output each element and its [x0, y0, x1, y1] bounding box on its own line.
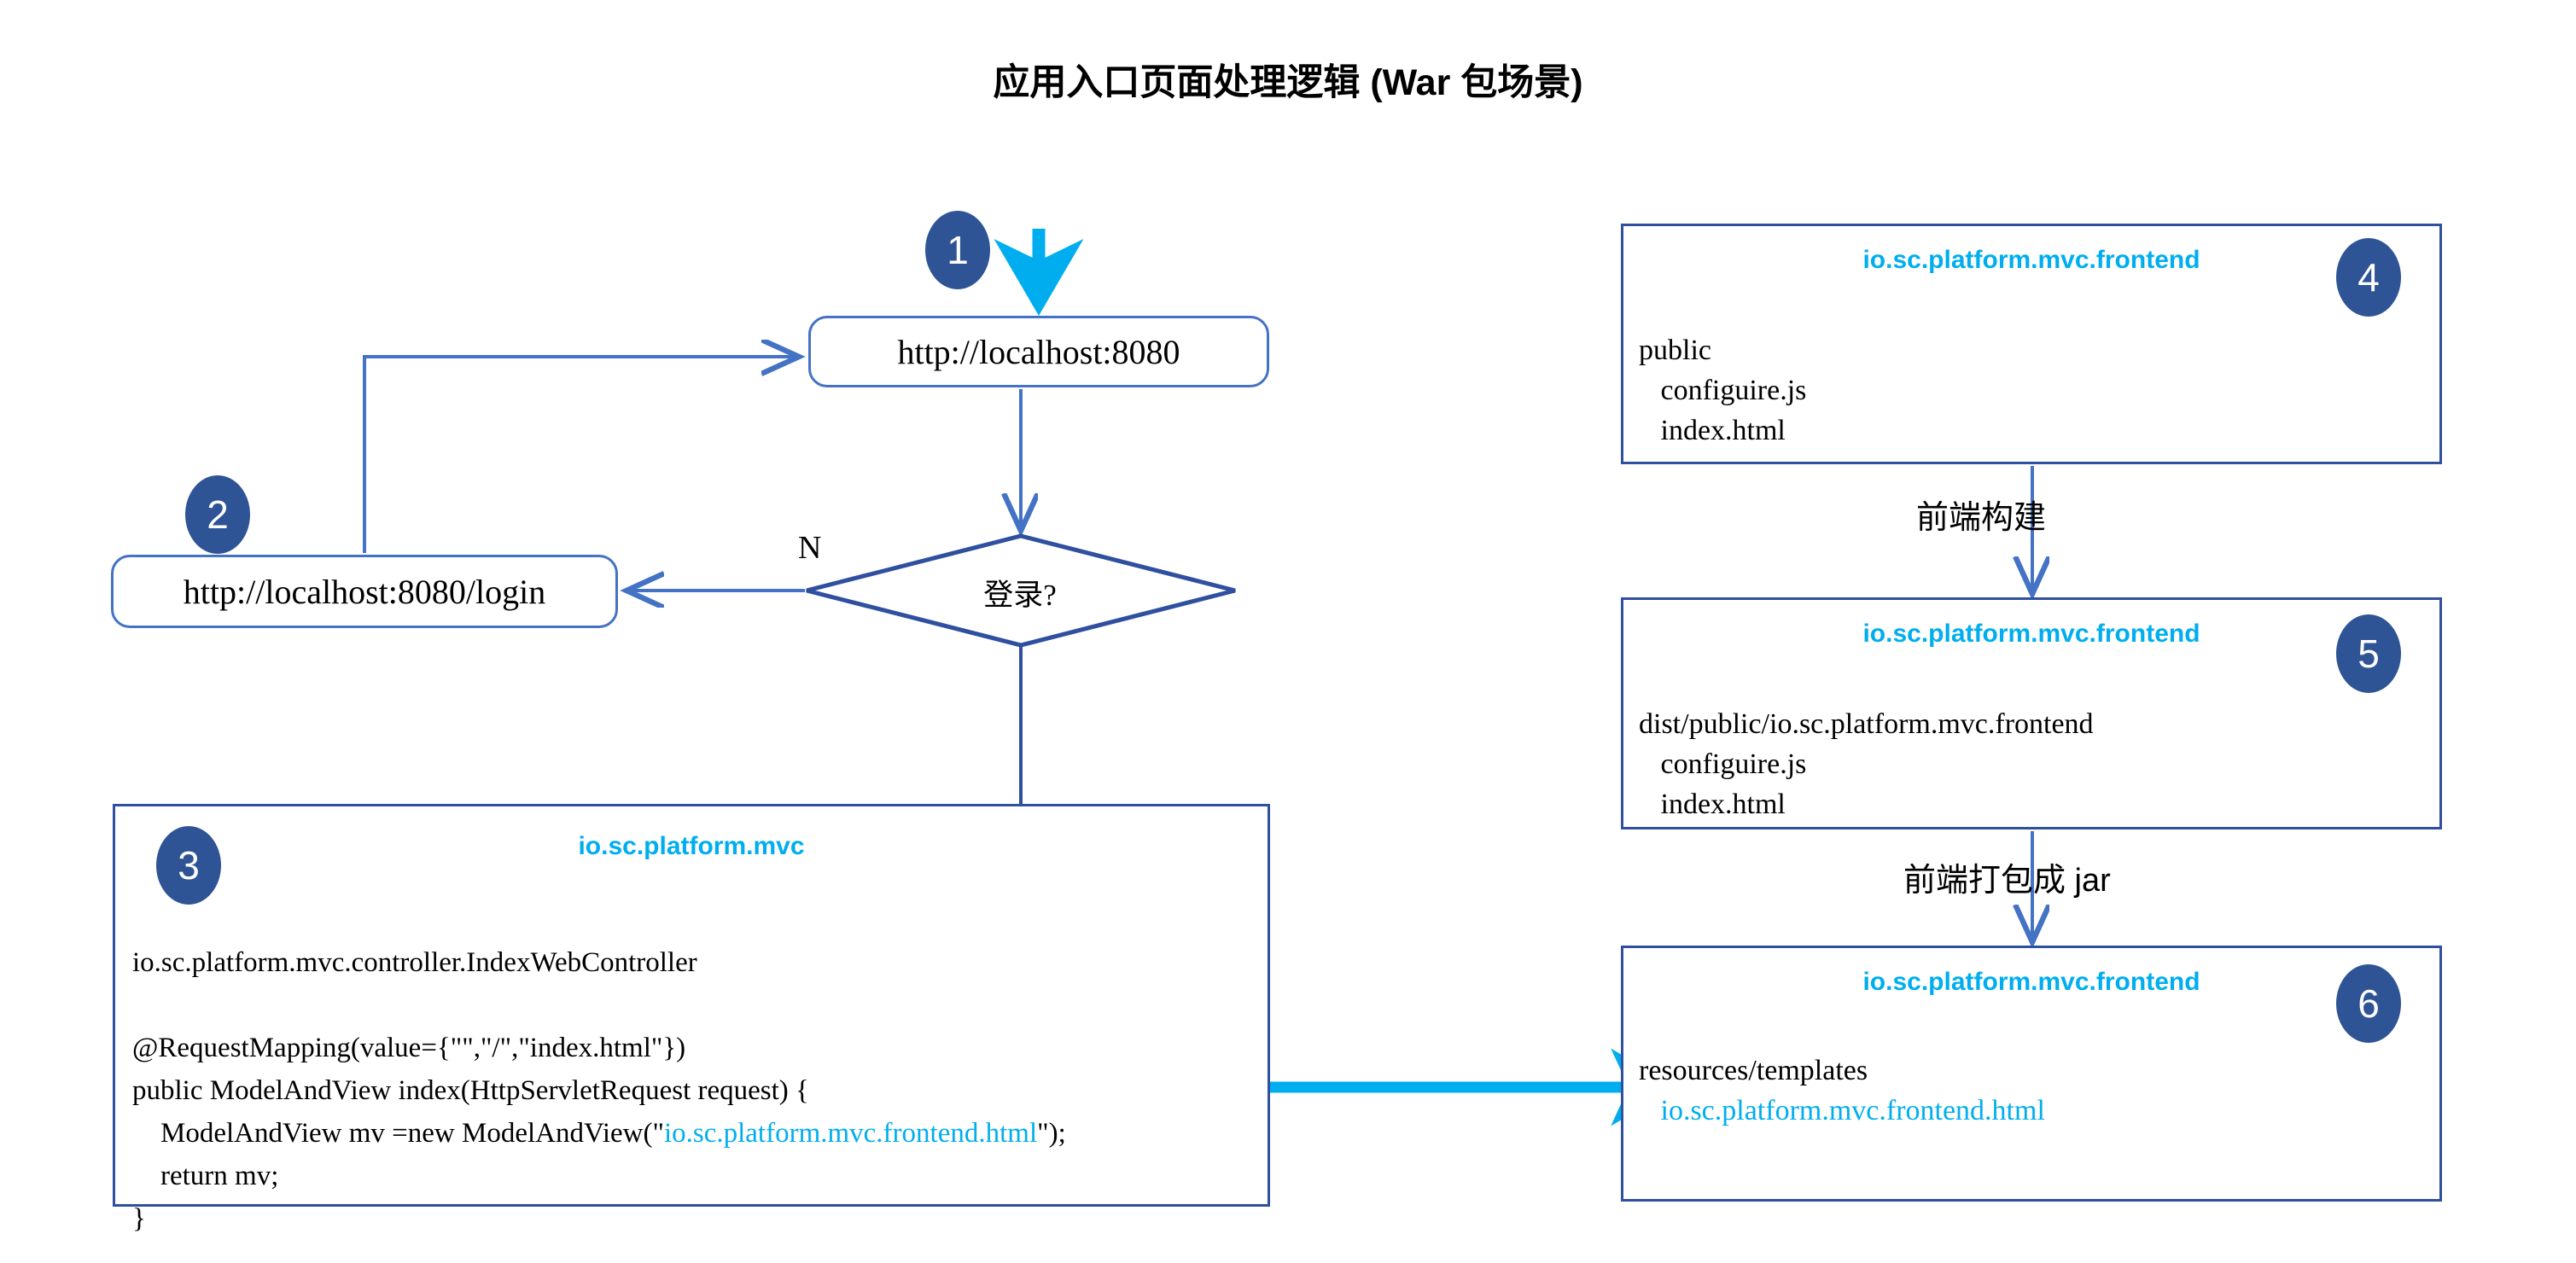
mvc-code-line-3-suffix: ");	[1037, 1118, 1066, 1149]
panel-frontend-source: io.sc.platform.mvc.frontend public confi…	[1621, 224, 2442, 464]
panel-frontend-dist: io.sc.platform.mvc.frontend dist/public/…	[1621, 597, 2442, 829]
decision-branch-no-label: N	[798, 529, 821, 567]
step-badge-4: 4	[2336, 238, 2401, 317]
frontend-dist-line-2: configuire.js	[1639, 748, 1806, 780]
mvc-view-name: io.sc.platform.mvc.frontend.html	[664, 1118, 1037, 1149]
frontend-source-line-3: index.html	[1639, 415, 1786, 446]
frontend-source-line-1: public	[1639, 335, 1711, 366]
panel-mvc-controller: io.sc.platform.mvc io.sc.platform.mvc.co…	[113, 804, 1270, 1207]
node-root-url-label: http://localhost:8080	[897, 332, 1180, 372]
node-login-url[interactable]: http://localhost:8080/login	[111, 555, 618, 628]
panel-frontend-jar: io.sc.platform.mvc.frontend resources/te…	[1621, 946, 2442, 1202]
node-root-url[interactable]: http://localhost:8080	[808, 316, 1269, 387]
mvc-code-line-4: return mv;	[132, 1161, 278, 1191]
step-badge-6: 6	[2336, 964, 2401, 1043]
panel-frontend-jar-body: resources/templates io.sc.platform.mvc.f…	[1639, 1051, 2045, 1131]
mvc-class-name: io.sc.platform.mvc.controller.IndexWebCo…	[132, 947, 697, 978]
edge-label-package-jar: 前端打包成 jar	[1903, 853, 2111, 900]
panel-mvc-body: io.sc.platform.mvc.controller.IndexWebCo…	[132, 941, 1066, 1240]
frontend-jar-template-file: io.sc.platform.mvc.frontend.html	[1639, 1095, 2045, 1126]
panel-frontend-source-body: public configuire.js index.html	[1639, 330, 1806, 451]
mvc-code-line-3-prefix: ModelAndView mv =new ModelAndView("	[132, 1118, 664, 1149]
step-badge-5: 5	[2336, 614, 2401, 693]
node-login-url-label: http://localhost:8080/login	[184, 572, 545, 612]
mvc-code-line-1: @RequestMapping(value={"","/","index.htm…	[132, 1033, 685, 1063]
page-title: 应用入口页面处理逻辑 (War 包场景)	[0, 53, 2576, 106]
step-badge-3: 3	[156, 826, 221, 905]
diagram-canvas: 应用入口页面处理逻辑 (War 包场景)	[0, 0, 2576, 1263]
mvc-code-line-2: public ModelAndView index(HttpServletReq…	[132, 1075, 809, 1106]
panel-frontend-dist-header: io.sc.platform.mvc.frontend	[1623, 620, 2439, 649]
step-badge-1: 1	[925, 211, 990, 289]
frontend-source-line-2: configuire.js	[1639, 375, 1806, 406]
decision-label: 登录?	[926, 571, 1114, 614]
step-badge-2: 2	[185, 475, 250, 554]
wire-login-back-to-root	[364, 357, 796, 553]
panel-frontend-jar-header: io.sc.platform.mvc.frontend	[1623, 968, 2439, 997]
panel-frontend-dist-body: dist/public/io.sc.platform.mvc.frontend …	[1639, 704, 2094, 824]
frontend-dist-line-1: dist/public/io.sc.platform.mvc.frontend	[1639, 708, 2094, 740]
edge-label-frontend-build: 前端构建	[1916, 491, 2046, 538]
frontend-dist-line-3: index.html	[1639, 789, 1786, 820]
frontend-jar-line-1: resources/templates	[1639, 1055, 1868, 1086]
panel-frontend-source-header: io.sc.platform.mvc.frontend	[1623, 246, 2439, 275]
mvc-code-line-5: }	[132, 1203, 146, 1234]
mvc-blank-line	[132, 990, 139, 1021]
panel-mvc-header: io.sc.platform.mvc	[115, 832, 1268, 861]
